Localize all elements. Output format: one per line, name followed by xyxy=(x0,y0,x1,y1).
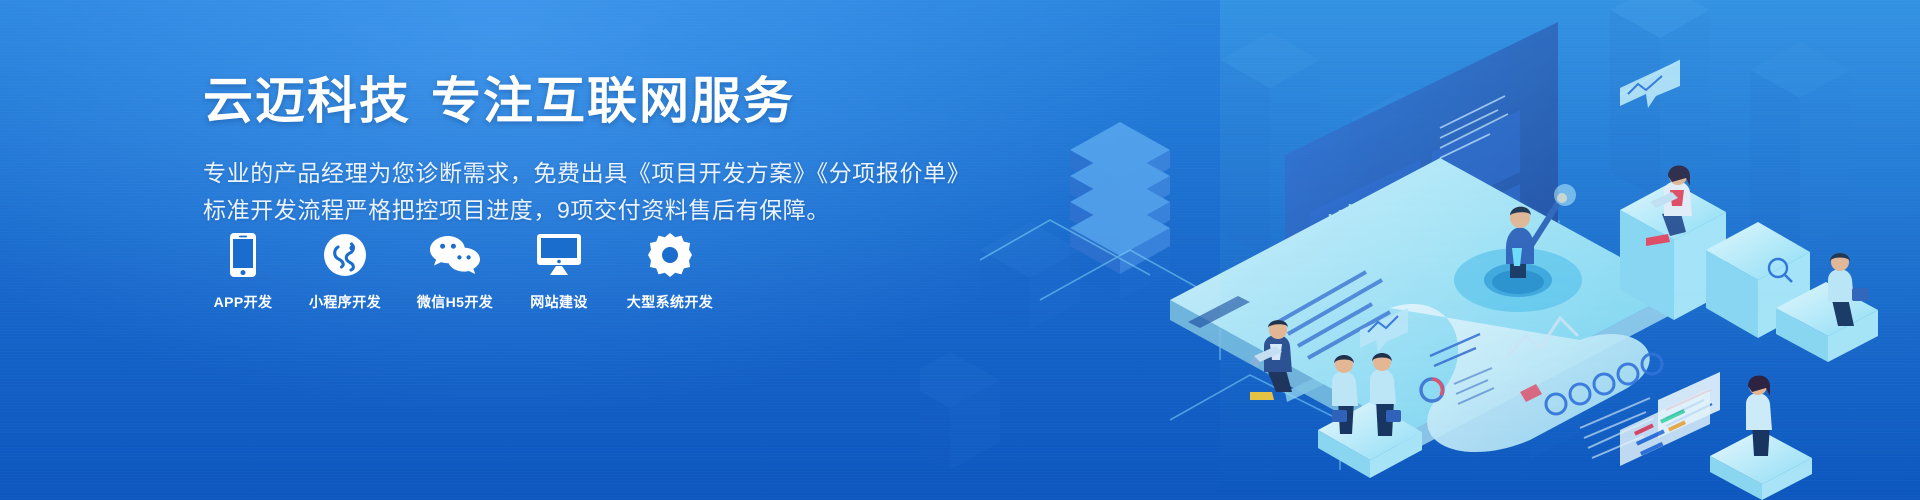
service-item-mini-program[interactable]: 小程序开发 xyxy=(299,232,391,312)
wechat-icon xyxy=(430,232,480,278)
service-label: 网站建设 xyxy=(530,292,588,312)
service-item-large-system[interactable]: 大型系统开发 xyxy=(615,232,725,312)
service-label: 小程序开发 xyxy=(309,292,381,312)
mini-program-icon xyxy=(324,232,366,278)
headline-part-2: 专注互联网服务 xyxy=(431,73,795,129)
service-label: 大型系统开发 xyxy=(627,292,713,312)
service-label: APP开发 xyxy=(214,292,273,312)
headline-part-1: 云迈科技 xyxy=(203,73,411,129)
service-item-app[interactable]: APP开发 xyxy=(203,232,283,312)
subtitle-line-2: 标准开发流程严格把控项目进度，9项交付资料售后有保障。 xyxy=(203,192,903,229)
mobile-phone-icon xyxy=(230,232,256,278)
banner-subtitle: 专业的产品经理为您诊断需求，免费出具《项目开发方案》《分项报价单》 标准开发流程… xyxy=(203,155,903,230)
banner-copy: 云迈科技专注互联网服务 专业的产品经理为您诊断需求，免费出具《项目开发方案》《分… xyxy=(203,72,903,230)
server-stack xyxy=(1070,122,1170,274)
monitor-icon xyxy=(536,232,582,278)
service-item-wechat-h5[interactable]: 微信H5开发 xyxy=(407,232,503,312)
gear-icon xyxy=(648,232,692,278)
page-title: 云迈科技专注互联网服务 xyxy=(203,72,903,131)
isometric-illustration xyxy=(920,0,1920,500)
service-item-website[interactable]: 网站建设 xyxy=(519,232,599,312)
hero-banner: 云迈科技专注互联网服务 专业的产品经理为您诊断需求，免费出具《项目开发方案》《分… xyxy=(0,0,1920,500)
service-label: 微信H5开发 xyxy=(417,292,493,312)
subtitle-line-1: 专业的产品经理为您诊断需求，免费出具《项目开发方案》《分项报价单》 xyxy=(203,155,903,192)
service-list: APP开发 小程序开发 xyxy=(203,232,725,312)
